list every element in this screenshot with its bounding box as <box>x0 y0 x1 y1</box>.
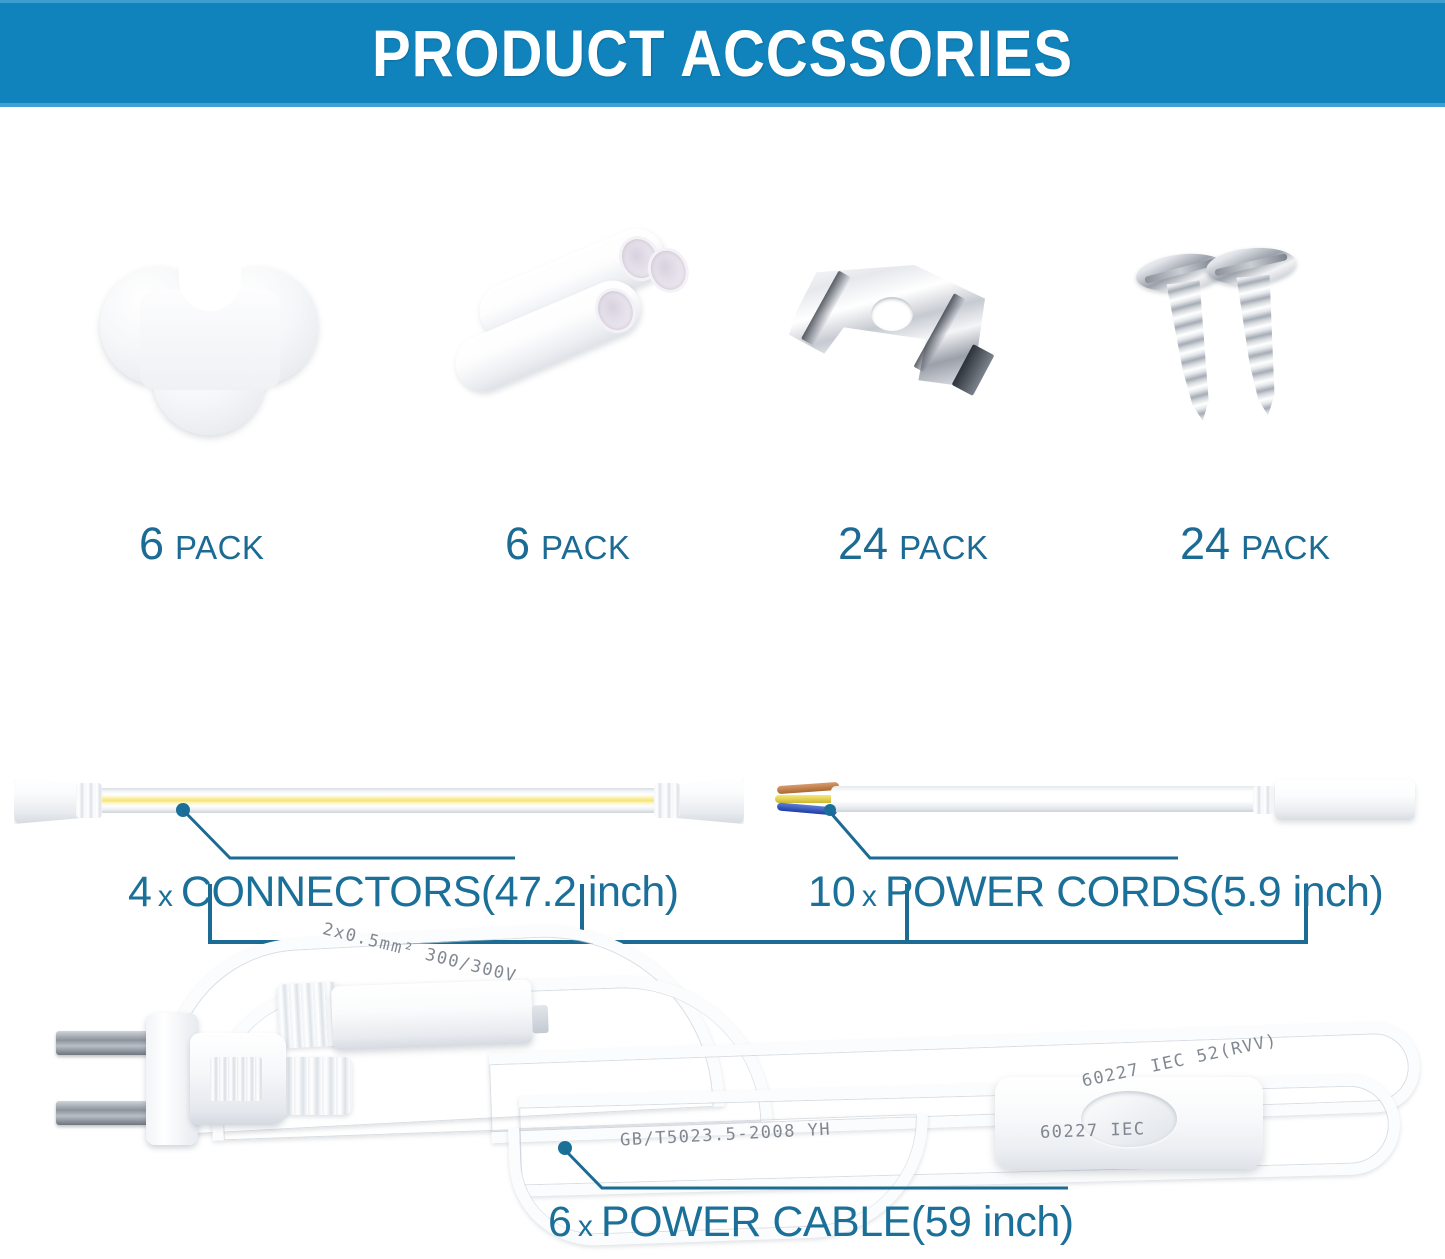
screw-shank-right <box>1230 274 1288 417</box>
tube-sleeve-icon <box>448 250 678 420</box>
pack-unit: PACK <box>175 529 264 567</box>
tube-bore-c <box>588 282 643 340</box>
cords-quantity: 10 <box>808 868 856 917</box>
trefoil-notch <box>179 239 241 311</box>
pack-unit: PACK <box>1241 529 1330 567</box>
pack-label-tube-sleeve: 6 PACK <box>505 518 630 570</box>
header-banner: PRODUCT ACCSSORIES <box>0 0 1445 107</box>
pack-unit: PACK <box>899 529 988 567</box>
clip-mounting-hole <box>871 297 913 331</box>
caption-power-cords: 10 x POWER CORDS(5.9 inch) <box>808 868 1383 917</box>
connectors-quantity: 4 <box>128 868 152 917</box>
leader-line-connectors <box>0 790 760 880</box>
page-title: PRODUCT ACCSSORIES <box>87 3 1359 103</box>
us-plug-assembly <box>38 1013 288 1153</box>
cable-label: POWER CABLE(59 inch) <box>601 1198 1074 1247</box>
connectors-multiplier: x <box>158 880 173 914</box>
pack-label-screws: 24 PACK <box>1180 518 1330 570</box>
pack-count: 6 <box>505 518 530 570</box>
pack-count: 24 <box>838 518 888 570</box>
pack-count: 6 <box>139 518 164 570</box>
screw-shank-left <box>1160 280 1223 425</box>
pack-label-trefoil-clip: 6 PACK <box>139 518 264 570</box>
cords-label: POWER CORDS(5.9 inch) <box>885 868 1383 917</box>
caption-connectors: 4 x CONNECTORS(47.2 inch) <box>128 868 679 917</box>
screw-right <box>1222 246 1293 420</box>
screws-icon <box>1155 248 1335 423</box>
socket-body <box>331 980 533 1051</box>
cable-socket-connector <box>278 975 538 1055</box>
screw-slot-right <box>1214 253 1288 276</box>
pack-label-mount-clip: 24 PACK <box>838 518 988 570</box>
plug-grip-ribs <box>210 1057 262 1101</box>
cords-multiplier: x <box>862 880 877 914</box>
plug-prong-top <box>56 1031 150 1055</box>
cable-multiplier: x <box>578 1210 593 1244</box>
metal-mount-clip-icon <box>775 255 1005 425</box>
caption-power-cable: 6 x POWER CABLE(59 inch) <box>548 1198 1074 1247</box>
socket-slot <box>532 1005 549 1034</box>
plug-prong-bottom <box>56 1101 150 1125</box>
pack-bracket <box>0 440 1445 515</box>
connectors-label: CONNECTORS(47.2 inch) <box>181 868 679 917</box>
trefoil-clip-icon <box>100 245 320 435</box>
pack-unit: PACK <box>541 529 630 567</box>
pack-count: 24 <box>1180 518 1230 570</box>
cable-quantity: 6 <box>548 1198 572 1247</box>
leader-line-power-cords <box>760 790 1445 880</box>
